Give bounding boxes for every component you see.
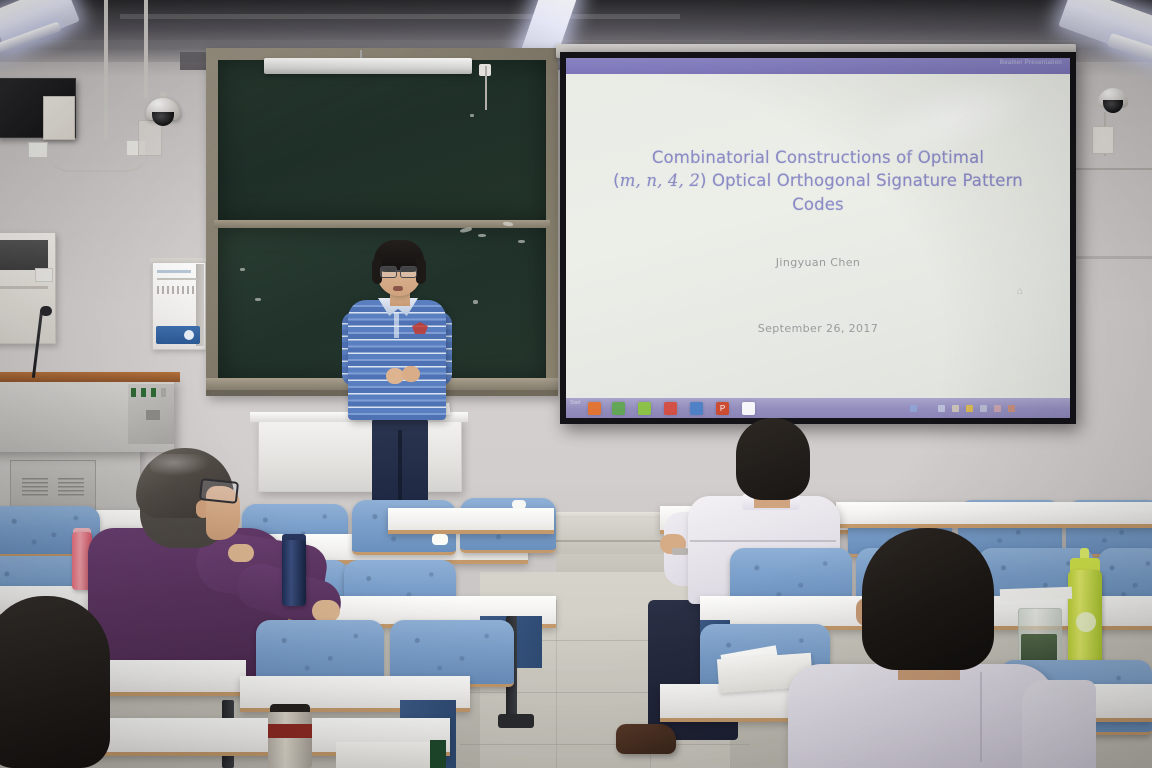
attendee-front-left-hand [312, 600, 340, 622]
chalk-smudge [240, 268, 245, 271]
classroom-photo: Beamer Presentation Combinatorial Constr… [0, 0, 1152, 768]
shirt-seam [980, 672, 982, 762]
air-conditioner-trim [0, 286, 48, 289]
wall-ledge [556, 518, 668, 554]
floor-tile-line [460, 744, 750, 745]
attendee-back-right-head [736, 418, 810, 500]
desk [836, 502, 1152, 528]
podium-vent [22, 478, 48, 498]
slide-content: Combinatorial Constructions of Optimal (… [566, 74, 1070, 398]
browser-green-icon[interactable] [638, 402, 651, 415]
wall-cable [46, 148, 150, 172]
slide-window-title: Beamer Presentation [1000, 60, 1062, 66]
slide-window-titlebar: Beamer Presentation [566, 58, 1070, 74]
wall-trim [1076, 256, 1152, 259]
antivirus-icon[interactable] [966, 405, 973, 412]
front-table [258, 418, 462, 492]
air-conditioner-vent [0, 240, 48, 270]
junction-box [43, 96, 75, 140]
wristwatch [672, 548, 688, 555]
presenter-placket [394, 312, 399, 338]
chalk-smudge [478, 234, 486, 237]
volume-icon[interactable] [938, 405, 945, 412]
attendee-back-right-shoe [616, 724, 676, 754]
projection-screen[interactable]: Beamer Presentation Combinatorial Constr… [566, 58, 1070, 418]
network-icon[interactable] [910, 405, 917, 412]
tissue [512, 500, 526, 509]
microphone-head[interactable] [40, 306, 52, 316]
navy-thermos [282, 540, 306, 606]
excel-icon[interactable] [742, 402, 755, 415]
paper-sheet [1000, 587, 1072, 602]
desk-foot [498, 714, 534, 728]
explorer-icon[interactable] [690, 402, 703, 415]
powerpoint-icon[interactable]: P [716, 402, 729, 415]
glasses-bridge [395, 270, 400, 272]
attendee-front-left-hand [228, 544, 254, 562]
conduit-pipe [104, 0, 108, 140]
bottle-label [1076, 612, 1096, 632]
slide-date: September 26, 2017 [590, 322, 1046, 335]
os-taskbar[interactable]: Start P [566, 398, 1070, 418]
home-icon[interactable]: ⌂ [1014, 286, 1026, 297]
slide-title-line-2: ) Optical Orthogonal Signature Pattern [700, 171, 1023, 190]
slide-author: Jingyuan Chen [590, 256, 1046, 269]
update-icon[interactable] [1008, 405, 1015, 412]
podium-indicator [141, 388, 146, 397]
control-panel-label [157, 278, 197, 280]
attendee-front-right-arm [1022, 680, 1096, 768]
podium-indicator [161, 388, 166, 397]
notebook-cover [430, 740, 446, 768]
chalk-smudge [470, 114, 474, 117]
control-panel-buttons[interactable] [157, 286, 197, 294]
battery-icon[interactable] [980, 405, 987, 412]
glasses-icon [400, 266, 417, 278]
pdf-reader-icon[interactable] [664, 402, 677, 415]
attendee-front-right-head [862, 528, 994, 670]
slide-title: Combinatorial Constructions of Optimal (… [590, 146, 1046, 216]
foreground-thermos [268, 712, 312, 768]
slide-title-line-1: Combinatorial Constructions of Optimal [652, 148, 984, 167]
conduit-pipe [144, 0, 148, 98]
ledge-seam [556, 540, 668, 542]
firefox-icon[interactable] [588, 402, 601, 415]
attendee-foreground-head [0, 596, 110, 768]
chalk-smudge [473, 300, 478, 304]
glasses-icon [199, 478, 239, 504]
slide-title-line-3: Codes [792, 195, 844, 214]
tissue [432, 534, 448, 545]
podium-logo [146, 410, 160, 420]
light-switch[interactable] [35, 268, 53, 282]
chalk-smudge [255, 298, 261, 301]
grey-hair-highlight [150, 454, 210, 476]
ceiling-beam-secondary [120, 14, 680, 19]
control-panel-label [157, 270, 191, 273]
podium-wood-trim [0, 372, 180, 382]
desk [388, 508, 554, 534]
slide-title-parameters: m, n, 4, 2 [620, 171, 700, 190]
chrome-icon[interactable] [612, 402, 625, 415]
podium-indicator [151, 388, 156, 397]
thermos-band [268, 724, 312, 738]
chalkboard-panel-upper[interactable] [218, 60, 546, 220]
chalkboard-lamp [264, 58, 472, 74]
floor-tile-line [556, 600, 557, 768]
chalkboard-divider [214, 220, 550, 228]
ime-icon[interactable] [952, 405, 959, 412]
slide-title-paren-open: ( [613, 171, 620, 190]
chalk-smudge [518, 240, 525, 243]
camera-junction-box [1092, 126, 1114, 154]
shirt-seam [690, 540, 836, 542]
presenter-hair-side [416, 258, 426, 284]
presenter-leg-gap [398, 430, 402, 510]
lamp-cord [485, 66, 487, 110]
wall-trim [1076, 168, 1152, 170]
presenter-hand-right [402, 366, 420, 382]
start-button-label[interactable]: Start [570, 400, 581, 406]
electrical-outlet[interactable] [28, 142, 48, 158]
control-panel-indicator [184, 330, 194, 340]
cloud-icon[interactable] [994, 405, 1001, 412]
glasses-icon [380, 266, 397, 278]
podium-vent [58, 478, 84, 498]
podium-indicator [131, 388, 136, 397]
presenter-mouth [393, 286, 403, 291]
